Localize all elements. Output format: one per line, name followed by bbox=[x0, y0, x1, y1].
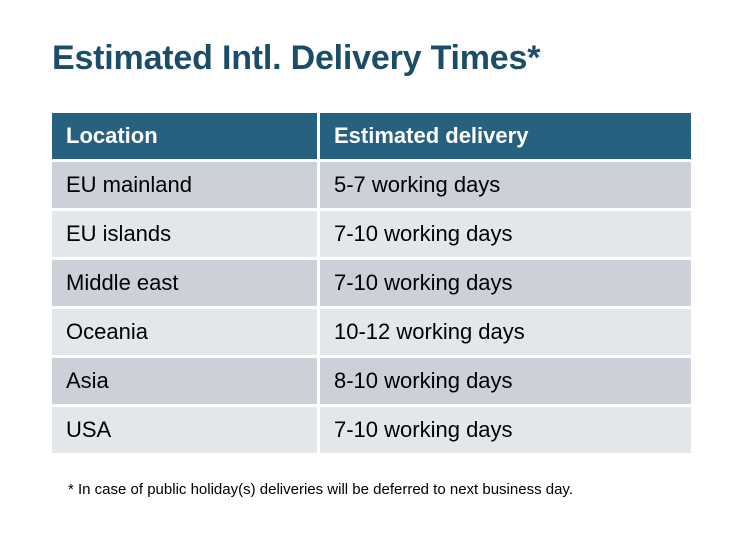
delivery-times-page: Estimated Intl. Delivery Times* Location… bbox=[0, 0, 745, 536]
footnote-public-holiday: * In case of public holiday(s) deliverie… bbox=[68, 480, 573, 500]
table-row: EU mainland 5-7 working days bbox=[52, 162, 691, 208]
column-header-location: Location bbox=[52, 113, 317, 159]
cell-location: USA bbox=[52, 407, 317, 453]
cell-location: Middle east bbox=[52, 260, 317, 306]
column-header-estimated-delivery: Estimated delivery bbox=[320, 113, 691, 159]
cell-estimated-delivery: 7-10 working days bbox=[320, 211, 691, 257]
table-row: EU islands 7-10 working days bbox=[52, 211, 691, 257]
cell-estimated-delivery: 10-12 working days bbox=[320, 309, 691, 355]
cell-estimated-delivery: 5-7 working days bbox=[320, 162, 691, 208]
cell-location: EU mainland bbox=[52, 162, 317, 208]
table-header-row: Location Estimated delivery bbox=[52, 113, 691, 159]
table-row: USA 7-10 working days bbox=[52, 407, 691, 453]
cell-location: Oceania bbox=[52, 309, 317, 355]
page-title: Estimated Intl. Delivery Times* bbox=[52, 36, 540, 80]
table-row: Middle east 7-10 working days bbox=[52, 260, 691, 306]
cell-estimated-delivery: 7-10 working days bbox=[320, 407, 691, 453]
table-row: Asia 8-10 working days bbox=[52, 358, 691, 404]
estimated-delivery-table: Location Estimated delivery EU mainland … bbox=[52, 113, 691, 453]
cell-estimated-delivery: 8-10 working days bbox=[320, 358, 691, 404]
cell-location: EU islands bbox=[52, 211, 317, 257]
cell-location: Asia bbox=[52, 358, 317, 404]
table-row: Oceania 10-12 working days bbox=[52, 309, 691, 355]
cell-estimated-delivery: 7-10 working days bbox=[320, 260, 691, 306]
